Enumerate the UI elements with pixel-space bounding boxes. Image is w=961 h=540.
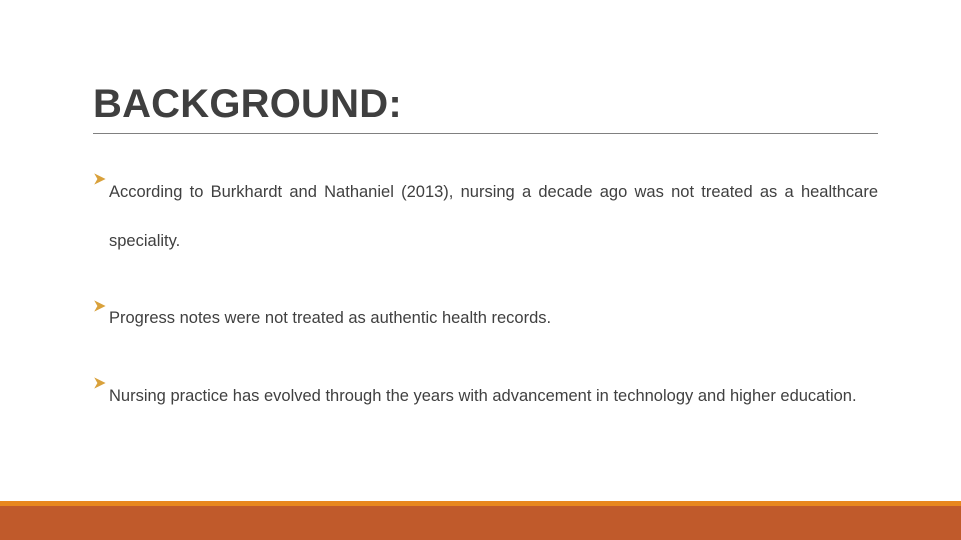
arrowhead-bullet-icon [93,172,107,186]
presentation-slide: BACKGROUND: According to Burkhardt and N… [0,0,961,540]
slide-title-block: BACKGROUND: [93,82,879,127]
bullet-list-item: Nursing practice has evolved through the… [93,372,878,421]
slide-body-content: According to Burkhardt and Nathaniel (20… [93,168,878,421]
bullet-list-item: Progress notes were not treated as authe… [93,294,878,343]
arrowhead-bullet-icon [93,299,107,313]
bullet-list-item: According to Burkhardt and Nathaniel (20… [93,168,878,265]
arrowhead-bullet-icon [93,376,107,390]
title-underline-divider [93,133,878,134]
page-title: BACKGROUND: [93,82,879,127]
bullet-text: Progress notes were not treated as authe… [109,309,551,327]
bullet-text: Nursing practice has evolved through the… [109,387,857,405]
bullet-text: According to Burkhardt and Nathaniel (20… [109,183,878,250]
footer-band [0,506,961,540]
